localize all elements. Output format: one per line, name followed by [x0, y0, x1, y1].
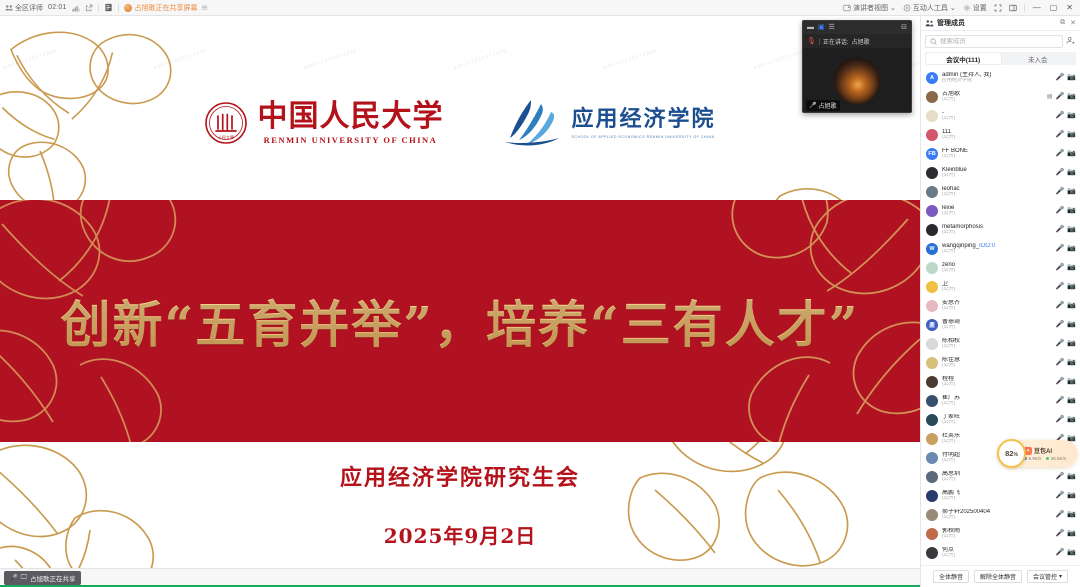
slide-title: 创新“五育并举”，培养“三有人才”: [0, 200, 920, 442]
avatar: [926, 509, 938, 521]
participant-sub: (公开): [942, 382, 1052, 387]
camera-off-icon[interactable]: 📷: [1067, 302, 1076, 309]
participant-sub: (公开): [942, 477, 1052, 482]
camera-off-icon[interactable]: 📷: [1067, 169, 1076, 176]
members-icon: [925, 19, 934, 28]
avatar: [926, 490, 938, 502]
ai-stat-upload: 5.9K/s: [1024, 456, 1041, 461]
participant-row[interactable]: 郝子轩202500404(公开)🎤📷: [921, 505, 1080, 524]
mic-muted-icon[interactable]: 🎤: [1056, 226, 1065, 233]
note-icon[interactable]: [104, 3, 113, 12]
mic-muted-icon[interactable]: 🎤: [1056, 188, 1065, 195]
toolbar-divider-3: [1024, 4, 1025, 12]
sae-sail-icon: [501, 98, 563, 148]
participant-meta: 丁家旺(公开): [942, 414, 1052, 426]
avatar: [926, 91, 938, 103]
participant-controls: 🎤📷: [1056, 359, 1076, 366]
mic-muted-icon[interactable]: 🎤: [1056, 397, 1065, 404]
ai-progress-ring: 82%: [997, 439, 1026, 468]
participant-row[interactable]: lexie(公开)🎤📷: [921, 201, 1080, 220]
top-toolbar: 全区评师 02:01: [0, 0, 1080, 16]
participant-controls: 🎤📷: [1056, 264, 1076, 271]
add-user-icon[interactable]: [1066, 36, 1076, 47]
avatar: [926, 110, 938, 122]
participant-row[interactable]: 郭秋雨(公开)🎤📷: [921, 524, 1080, 543]
participant-sub: (公开): [942, 401, 1052, 406]
camera-off-icon[interactable]: 📷: [1067, 397, 1076, 404]
participant-meta: 何点(公开): [942, 547, 1052, 559]
participant-controls: 🎤📷: [1056, 131, 1076, 138]
mic-muted-icon[interactable]: 🎤: [1056, 150, 1065, 157]
sae-logo-text: 应用经济学院 SCHOOL OF APPLIED ECONOMICS RENMI…: [571, 107, 715, 138]
chevron-down-icon-3: ▾: [1059, 573, 1062, 580]
participant-sub: (公开): [942, 553, 1052, 558]
camera-off-icon[interactable]: 📷: [1067, 321, 1076, 328]
mic-muted-icon[interactable]: 🎤: [1056, 245, 1065, 252]
participant-controls: 🎤📷: [1056, 169, 1076, 176]
avatar: 鹿: [926, 319, 938, 331]
participant-meta: 高思圳(公开): [942, 471, 1052, 483]
participant-sub: (公开): [942, 135, 1052, 140]
slide-date: 2025年9月2日: [0, 520, 920, 549]
popout-icon[interactable]: ⧉: [1060, 19, 1065, 27]
video-panel-controls: ▬ ▣ ☰ ⊟: [803, 21, 911, 34]
participant-sub: (公开): [942, 116, 1052, 121]
participant-meta: leohac(公开): [942, 186, 1052, 198]
minimize-button[interactable]: —: [1032, 3, 1042, 12]
participant-controls: 🎤📷: [1056, 378, 1076, 385]
avatar: [926, 547, 938, 559]
more-icon[interactable]: [201, 4, 208, 11]
mic-muted-icon[interactable]: 🎤: [1056, 264, 1065, 271]
ai-badge-content: ✦ 豆包AI 5.9K/s 26.5K/s: [1024, 446, 1066, 461]
toolbar-evaluate-button[interactable]: 全区评师: [5, 3, 43, 13]
avatar: [926, 262, 938, 274]
participant-controls: 🎤📷: [1056, 207, 1076, 214]
participant-sub: (公开): [942, 420, 1052, 425]
participant-controls: 🎤📷: [1056, 511, 1076, 518]
people-icon: [5, 4, 13, 12]
mic-muted-icon[interactable]: 🎤: [1056, 169, 1065, 176]
sharing-avatar-icon: [124, 4, 132, 12]
avatar: [834, 58, 880, 104]
mic-muted-icon[interactable]: 🎤: [1056, 473, 1065, 480]
search-input[interactable]: [940, 38, 1058, 45]
participant-row[interactable]: 占旭歌(公开)▤🎤📷: [921, 87, 1080, 106]
participants-panel: 管理成员 ⧉ ✕ 会议中: [920, 16, 1080, 587]
participant-row[interactable]: Kleinblue(公开)🎤📷: [921, 163, 1080, 182]
avatar: [926, 281, 938, 293]
camera-off-icon[interactable]: 📷: [1067, 112, 1076, 119]
layout-switch-icon[interactable]: ⊟: [901, 24, 907, 31]
avatar: [926, 300, 938, 312]
meeting-control-label: 会议管控: [1033, 572, 1057, 581]
participant-sub: (公开): [942, 230, 1052, 235]
participant-sub: (公开): [942, 192, 1052, 197]
interactive-tools-label: 互动人工具: [913, 3, 948, 13]
panel-header: 管理成员 ⧉ ✕: [921, 16, 1080, 31]
camera-off-icon[interactable]: 📷: [1067, 416, 1076, 423]
avatar: [926, 414, 938, 426]
mic-muted-icon[interactable]: 🎤: [1056, 112, 1065, 119]
participant-sub: (公开): [942, 287, 1052, 292]
ai-stat-download: 26.5K/s: [1046, 456, 1066, 461]
participant-meta: 陈相权(公开): [942, 338, 1052, 350]
avatar: [926, 167, 938, 179]
video-name-badge: 🎤 占旭歌: [806, 100, 840, 111]
participant-controls: 🎤📷: [1056, 283, 1076, 290]
mic-muted-icon[interactable]: 🎤: [1056, 416, 1065, 423]
participant-controls: 🎤📷: [1056, 112, 1076, 119]
participant-row[interactable]: FBFF BONE(公开)🎤📷: [921, 144, 1080, 163]
camera-off-icon[interactable]: 📷: [1067, 245, 1076, 252]
sidebar-icon[interactable]: [1009, 4, 1017, 12]
chevron-down-icon: ⌄: [890, 4, 896, 12]
participant-row[interactable]: Aadmin (主持人, 我)应用经济学院🎤📷: [921, 68, 1080, 87]
list-icon[interactable]: ☰: [829, 24, 835, 31]
interactive-tools-button[interactable]: 互动人工具 ⌄: [903, 3, 956, 13]
participant-controls: 🎤📷: [1056, 549, 1076, 556]
fullscreen-icon[interactable]: [994, 4, 1002, 12]
participant-row[interactable]: 卫(公开)🎤📷: [921, 277, 1080, 296]
ruc-logo: 人民大學 中国人民大学 RENMIN UNIVERSITY OF CHINA: [204, 101, 443, 145]
participant-row[interactable]: 111(公开)🎤📷: [921, 125, 1080, 144]
sae-logo: 应用经济学院 SCHOOL OF APPLIED ECONOMICS RENMI…: [501, 98, 715, 148]
participant-meta: wangqinping_IOO:0(公开): [942, 243, 1052, 255]
avatar: [926, 129, 938, 141]
participant-meta: -(公开): [942, 110, 1052, 122]
tab-not-joined[interactable]: 未入会: [1001, 53, 1076, 64]
mic-muted-icon[interactable]: 🎤: [1056, 302, 1065, 309]
participant-controls: 🎤📷: [1056, 74, 1076, 81]
ai-badge-title-row: ✦ 豆包AI: [1024, 446, 1066, 455]
camera-off-icon[interactable]: 📷: [1067, 150, 1076, 157]
participant-row[interactable]: 陈佳慧(公开)🎤📷: [921, 353, 1080, 372]
avatar: [926, 376, 938, 388]
shared-screen-stage: 人民大學 中国人民大学 RENMIN UNIVERSITY OF CHINA: [0, 16, 920, 568]
avatar: A: [926, 72, 938, 84]
close-icon[interactable]: ✕: [1070, 19, 1076, 27]
gear-icon: [963, 4, 971, 12]
minimize-icon[interactable]: ▬: [807, 24, 814, 31]
participant-controls: 🎤📷: [1056, 226, 1076, 233]
speaking-name: 占旭歌: [852, 37, 870, 46]
participant-row[interactable]: 高思圳(公开)🎤📷: [921, 467, 1080, 486]
participant-sub: (公开): [942, 97, 1043, 102]
toolbar-divider-2: [118, 4, 119, 12]
participant-sub: (公开): [942, 249, 1052, 254]
participants-list[interactable]: Aadmin (主持人, 我)应用经济学院🎤📷占旭歌(公开)▤🎤📷-(公开)🎤📷…: [921, 68, 1080, 565]
avatar: [926, 186, 938, 198]
participant-row[interactable]: 高鹏飞(公开)🎤📷: [921, 486, 1080, 505]
meeting-timer-label: 02:01: [48, 4, 67, 11]
toolbar-evaluate-label: 全区评师: [15, 3, 43, 13]
view-mode-button[interactable]: 演讲者视图 ⌄: [843, 3, 896, 13]
close-button[interactable]: ✕: [1065, 3, 1074, 12]
view-mode-label: 演讲者视图: [853, 3, 888, 13]
participant-controls: 🎤📷: [1056, 473, 1076, 480]
participant-sub: (公开): [942, 344, 1052, 349]
maximize-button[interactable]: ▢: [1049, 3, 1059, 12]
camera-off-icon[interactable]: 📷: [1067, 473, 1076, 480]
settings-label: 设置: [973, 3, 987, 13]
mic-muted-icon[interactable]: 🎤: [1056, 378, 1065, 385]
camera-off-icon[interactable]: 📷: [1067, 93, 1076, 100]
participant-row[interactable]: metamorphosis(公开)🎤📷: [921, 220, 1080, 239]
search-icon: [930, 38, 937, 45]
participant-controls: 🎤📷: [1056, 530, 1076, 537]
mic-muted-icon[interactable]: 🎤: [1056, 131, 1065, 138]
participant-sub: (公开): [942, 515, 1052, 520]
signal-icon[interactable]: [72, 4, 80, 12]
mic-icon: 🎤: [809, 102, 816, 109]
speaking-divider: [819, 38, 820, 45]
camera-off-icon[interactable]: 📷: [1067, 378, 1076, 385]
participant-controls: 🎤📷: [1056, 150, 1076, 157]
sae-logo-cn: 应用经济学院: [571, 107, 715, 131]
video-tile[interactable]: 🎤 占旭歌: [803, 48, 911, 113]
participant-row[interactable]: 鹿曹璟琦(公开)🎤📷: [921, 315, 1080, 334]
panel-footer: 全体静音 解除全体静音 会议管控 ▾: [921, 565, 1080, 587]
camera-off-icon[interactable]: 📷: [1067, 530, 1076, 537]
participant-meta: 崔广苏(公开): [942, 395, 1052, 407]
participant-meta: 111(公开): [942, 129, 1052, 141]
participant-sub: (公开): [942, 268, 1052, 273]
participant-meta: zeno(公开): [942, 262, 1052, 274]
toolbar-left-group: 全区评师 02:01: [0, 3, 208, 13]
participant-meta: admin (主持人, 我)应用经济学院: [942, 72, 1052, 84]
participant-row[interactable]: 何点(公开)🎤📷: [921, 543, 1080, 562]
camera-off-icon[interactable]: 📷: [1067, 207, 1076, 214]
mic-on-icon[interactable]: 🎤: [1056, 93, 1065, 100]
participant-row[interactable]: 丁家旺(公开)🎤📷: [921, 410, 1080, 429]
participant-controls: 🎤📷: [1056, 245, 1076, 252]
meeting-timer: 02:01: [48, 4, 67, 11]
avatar: [926, 395, 938, 407]
mic-muted-icon[interactable]: 🎤: [1056, 492, 1065, 499]
mic-icon-status: 🎤: [9, 574, 18, 582]
mic-muted-icon[interactable]: 🎤: [1056, 340, 1065, 347]
mic-muted-icon[interactable]: 🎤: [1056, 321, 1065, 328]
ruc-logo-text: 中国人民大学 RENMIN UNIVERSITY OF CHINA: [257, 101, 443, 145]
toolbar-divider-1: [98, 4, 99, 12]
chevron-down-icon-2: ⌄: [950, 4, 956, 12]
avatar: [926, 528, 938, 540]
participant-sub: 应用经济学院: [942, 78, 1052, 83]
speaking-prefix: 正在讲话:: [823, 37, 849, 46]
participant-meta: 陈佳慧(公开): [942, 357, 1052, 369]
participant-meta: lexie(公开): [942, 205, 1052, 217]
panel-tabs: 会议中(111) 未入会: [925, 52, 1076, 65]
camera-off-icon[interactable]: 📷: [1067, 359, 1076, 366]
participant-sub: (公开): [942, 325, 1052, 330]
avatar: [926, 357, 938, 369]
camera-off-icon[interactable]: 📷: [1067, 549, 1076, 556]
camera-off-icon[interactable]: 📷: [1067, 264, 1076, 271]
participant-row[interactable]: 陈相权(公开)🎤📷: [921, 334, 1080, 353]
participant-meta: metamorphosis(公开): [942, 224, 1052, 236]
participant-meta: 程程(公开): [942, 376, 1052, 388]
floating-video-panel[interactable]: ▬ ▣ ☰ ⊟ 🎙 正在讲话: 占旭歌 🎤 占旭歌: [802, 20, 912, 113]
mic-muted-icon[interactable]: 🎤: [1056, 207, 1065, 214]
avatar: [926, 433, 938, 445]
ruc-logo-cn: 中国人民大学: [257, 101, 443, 133]
participant-row[interactable]: 安思齐(公开)🎤📷: [921, 296, 1080, 315]
layout-icon: [843, 4, 851, 12]
participant-controls: 🎤📷: [1056, 321, 1076, 328]
participant-meta: 占旭歌(公开): [942, 91, 1043, 103]
participant-meta: 高鹏飞(公开): [942, 490, 1052, 502]
mic-muted-icon[interactable]: 🎤: [1056, 359, 1065, 366]
participant-sub: (公开): [942, 534, 1052, 539]
meeting-window: 全区评师 02:01: [0, 0, 1080, 587]
camera-off-icon[interactable]: 📷: [1067, 283, 1076, 290]
participant-meta: 郝子轩202500404(公开): [942, 509, 1052, 521]
sharing-status-label: 占旭歌正在共享: [30, 573, 76, 583]
participant-controls: 🎤📷: [1056, 416, 1076, 423]
panel-title: 管理成员: [937, 18, 965, 28]
mic-muted-icon[interactable]: 🎤: [1056, 549, 1065, 556]
participant-controls: 🎤📷: [1056, 340, 1076, 347]
participant-row[interactable]: 崔广苏(公开)🎤📷: [921, 391, 1080, 410]
participant-meta: Kleinblue(公开): [942, 167, 1052, 179]
participant-row[interactable]: 洪悦洋(公开)🎤📷: [921, 562, 1080, 565]
external-link-icon[interactable]: [85, 4, 93, 12]
tools-icon: [903, 4, 911, 12]
participant-sub: (公开): [942, 154, 1052, 159]
avatar: [926, 205, 938, 217]
participant-row[interactable]: leohac(公开)🎤📷: [921, 182, 1080, 201]
ai-badge-stats: 5.9K/s 26.5K/s: [1024, 456, 1066, 461]
settings-button[interactable]: 设置: [963, 3, 987, 13]
camera-off-icon[interactable]: 📷: [1067, 492, 1076, 499]
mic-muted-icon[interactable]: 🎤: [1056, 283, 1065, 290]
participant-row[interactable]: zeno(公开)🎤📷: [921, 258, 1080, 277]
panel-search-row: [925, 35, 1076, 48]
mic-muted-icon[interactable]: 🎤: [1056, 74, 1065, 81]
meeting-control-button[interactable]: 会议管控 ▾: [1027, 570, 1068, 583]
participant-name-link[interactable]: IOO:0: [979, 243, 995, 249]
participant-meta: 卫(公开): [942, 281, 1052, 293]
slide-logo-row: 人民大學 中国人民大学 RENMIN UNIVERSITY OF CHINA: [0, 98, 920, 148]
ai-assistant-badge[interactable]: 82% ✦ 豆包AI 5.9K/s 26.5K/s: [999, 440, 1077, 467]
screen-share-icon[interactable]: ▤: [1047, 93, 1053, 100]
video-name-label: 占旭歌: [818, 101, 836, 110]
camera-off-icon[interactable]: 📷: [1067, 74, 1076, 81]
tab-in-meeting[interactable]: 会议中(111): [926, 53, 1001, 64]
participant-controls: 🎤📷: [1056, 397, 1076, 404]
toolbar-right-group: 演讲者视图 ⌄ 互动人工具 ⌄ 设置: [843, 3, 1080, 13]
screen-icon: 🖵: [21, 574, 27, 582]
sae-logo-en: SCHOOL OF APPLIED ECONOMICS RENMIN UNIVE…: [571, 135, 715, 139]
participant-controls: 🎤📷: [1056, 188, 1076, 195]
participant-row[interactable]: Wwangqinping_IOO:0(公开)🎤📷: [921, 239, 1080, 258]
camera-off-icon[interactable]: 📷: [1067, 188, 1076, 195]
camera-off-icon[interactable]: 📷: [1067, 340, 1076, 347]
avatar: FB: [926, 148, 938, 160]
participant-sub: (公开): [942, 496, 1052, 501]
avatar: [926, 452, 938, 464]
participant-meta: 郭秋雨(公开): [942, 528, 1052, 540]
mic-muted-icon: 🎙: [807, 37, 816, 45]
participant-row[interactable]: -(公开)🎤📷: [921, 106, 1080, 125]
participant-sub: (公开): [942, 173, 1052, 178]
sharing-status-chip[interactable]: 🎤 🖵 占旭歌正在共享: [4, 571, 81, 585]
mute-all-button[interactable]: 全体静音: [933, 570, 969, 583]
camera-off-icon[interactable]: 📷: [1067, 511, 1076, 518]
participant-sub: (公开): [942, 211, 1052, 216]
mic-muted-icon[interactable]: 🎤: [1056, 511, 1065, 518]
sharing-indicator[interactable]: 占旭歌正在共享屏幕: [124, 3, 208, 13]
presentation-slide: 人民大學 中国人民大学 RENMIN UNIVERSITY OF CHINA: [0, 16, 920, 568]
ai-percent: 82%: [1005, 449, 1018, 458]
ruc-seal-icon: 人民大學: [204, 101, 248, 145]
participant-row[interactable]: 程程(公开)🎤📷: [921, 372, 1080, 391]
camera-off-icon[interactable]: 📷: [1067, 226, 1076, 233]
participant-controls: 🎤📷: [1056, 492, 1076, 499]
svg-text:人民大學: 人民大學: [218, 134, 234, 140]
avatar: W: [926, 243, 938, 255]
slide-footer-text: 应用经济学院研究生会 2025年9月2日: [0, 460, 920, 549]
participant-meta: 曹璟琦(公开): [942, 319, 1052, 331]
panel-header-actions: ⧉ ✕: [1060, 19, 1076, 27]
slide-subtitle: 应用经济学院研究生会: [0, 460, 920, 492]
avatar: [926, 338, 938, 350]
mic-muted-icon[interactable]: 🎤: [1056, 530, 1065, 537]
participant-controls: ▤🎤📷: [1047, 93, 1076, 100]
avatar: [926, 471, 938, 483]
avatar: [926, 224, 938, 236]
participant-controls: 🎤📷: [1056, 302, 1076, 309]
speaking-indicator: 🎙 正在讲话: 占旭歌: [803, 34, 911, 48]
sharing-label: 占旭歌正在共享屏幕: [135, 3, 198, 13]
search-box[interactable]: [925, 35, 1063, 48]
camera-off-icon[interactable]: 📷: [1067, 131, 1076, 138]
participant-meta: 安思齐(公开): [942, 300, 1052, 312]
ai-badge-title: 豆包AI: [1034, 446, 1052, 455]
restore-icon[interactable]: ▣: [818, 24, 825, 31]
ruc-logo-en: RENMIN UNIVERSITY OF CHINA: [264, 135, 438, 145]
unmute-all-button[interactable]: 解除全体静音: [974, 570, 1022, 583]
participant-sub: (公开): [942, 306, 1052, 311]
participant-meta: FF BONE(公开): [942, 148, 1052, 160]
participant-sub: (公开): [942, 363, 1052, 368]
slide-title-band: 创新“五育并举”，培养“三有人才”: [0, 200, 920, 442]
